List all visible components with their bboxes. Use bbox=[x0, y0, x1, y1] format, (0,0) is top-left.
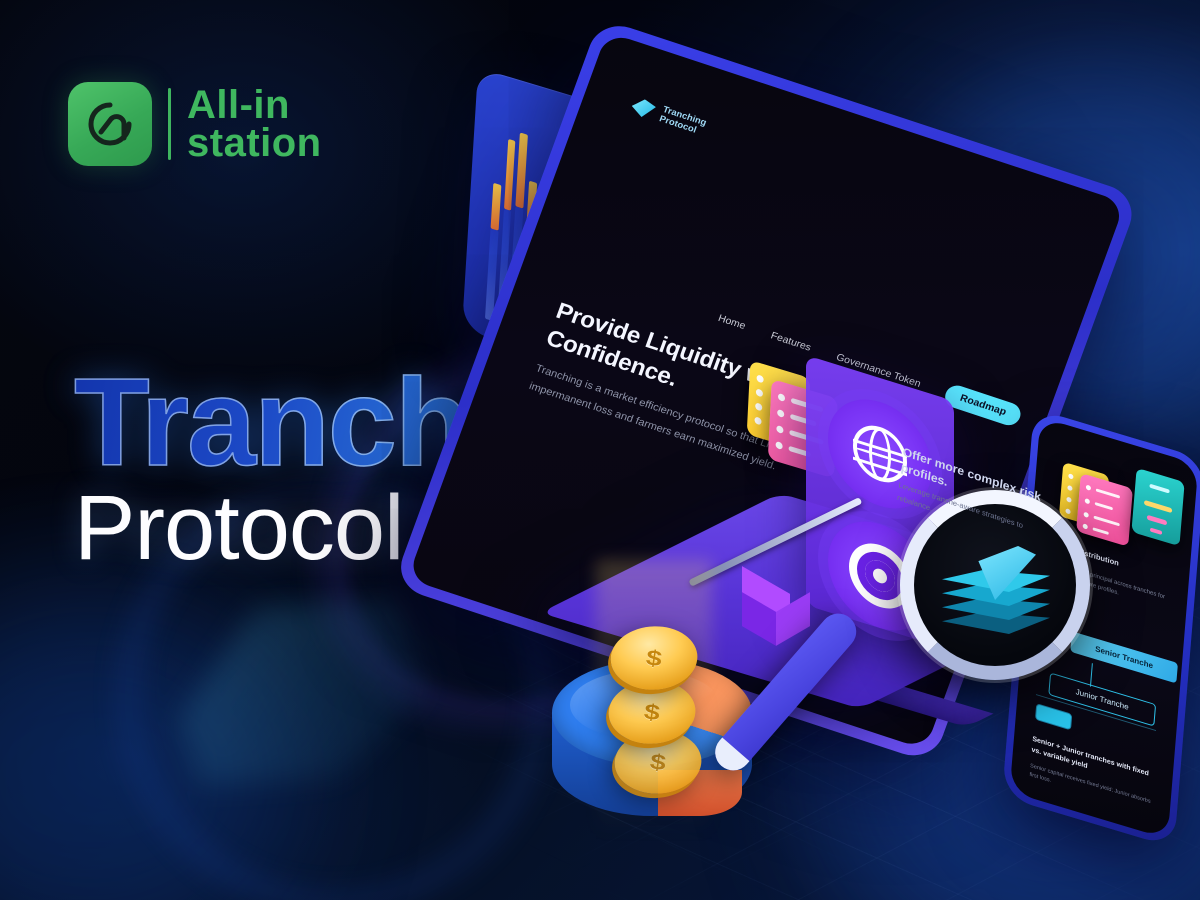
phone-card-teal bbox=[1131, 468, 1184, 546]
all-in-station-mark-icon bbox=[68, 82, 152, 166]
coin-symbol-1: $ bbox=[644, 644, 663, 671]
nav-item-roadmap[interactable]: Roadmap bbox=[942, 383, 1023, 429]
globe-icon bbox=[853, 419, 907, 490]
brand-name-line1: All-in bbox=[187, 86, 322, 124]
brand-logo[interactable]: All-in station bbox=[68, 82, 322, 166]
nav-item-home[interactable]: Home bbox=[716, 313, 746, 332]
tranching-protocol-mark-icon bbox=[629, 96, 657, 120]
magnifier-lens bbox=[900, 490, 1090, 680]
nav-item-features[interactable]: Features bbox=[769, 330, 812, 353]
website-logo-text: Tranching Protocol bbox=[658, 105, 708, 138]
bar-chart-bar-cap bbox=[491, 183, 502, 231]
logo-divider bbox=[168, 88, 171, 160]
brand-name: All-in station bbox=[187, 86, 322, 162]
brand-name-line2: station bbox=[187, 124, 322, 162]
tranche-connector bbox=[1090, 663, 1093, 687]
website-logo[interactable]: Tranching Protocol bbox=[629, 95, 708, 137]
bar-chart-bar-cap bbox=[516, 132, 528, 208]
coin-symbol-3: $ bbox=[648, 748, 667, 775]
phone-chip-button[interactable] bbox=[1036, 704, 1071, 729]
poster-canvas: All-in station Tranching Protocol Tranch… bbox=[0, 0, 1200, 900]
coin-symbol-2: $ bbox=[642, 698, 661, 725]
bar-chart-bar-cap bbox=[504, 139, 516, 211]
cube-icon bbox=[742, 580, 812, 642]
tranche-layer-stack bbox=[942, 540, 1062, 650]
magnifier-icon bbox=[900, 490, 1090, 680]
